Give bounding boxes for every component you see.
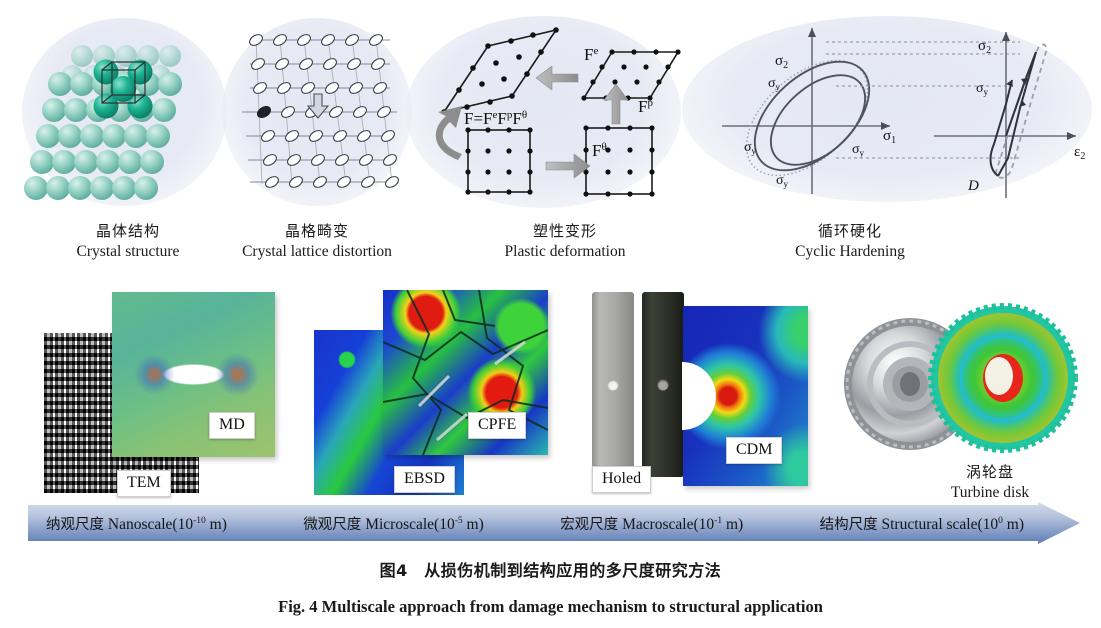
scale-item-macroscale: 宏观尺度 Macroscale(10-1 m): [560, 513, 743, 534]
scale-item-unit: m): [722, 516, 743, 533]
scale-item-exponent: -10: [193, 515, 206, 525]
cyclic-hardening-graphic: σ2 σ1 σy σy σy σy: [676, 8, 1096, 208]
arrow-total-icon: [436, 106, 462, 160]
label-cn: 晶格畸变: [172, 222, 462, 241]
label-plastic-deformation: Fp: [638, 97, 653, 116]
hysteresis-yield-label: σy: [976, 81, 989, 97]
label-en: Plastic deformation: [440, 242, 690, 261]
label-plastic-deformation: 塑性变形 Plastic deformation: [440, 222, 690, 261]
axis-label-sigma1: σ1: [883, 128, 896, 146]
scale-item-unit: m): [1003, 516, 1024, 533]
scale-item-nanoscale: 纳观尺度 Nanoscale(10-10 m): [46, 513, 227, 534]
tag-cpfe: CPFE: [468, 412, 526, 439]
thermal-config: [583, 125, 654, 196]
label-elastic-deformation: Fe: [584, 45, 598, 64]
hysteresis-plot: σ2 ε2 σy D: [934, 32, 1085, 198]
tag-cdm: CDM: [726, 437, 782, 464]
scale-item-microscale: 微观尺度 Microscale(10-5 m): [303, 513, 483, 534]
figure-caption-en: Fig. 4 Multiscale approach from damage m…: [0, 597, 1101, 617]
scale-item-cn: 结构尺度: [820, 517, 878, 533]
current-config: [441, 27, 559, 115]
panel-cyclic-hardening: σ2 σ1 σy σy σy σy: [676, 8, 1096, 208]
axis-label-sigma2: σ2: [775, 53, 788, 71]
label-thermal-deformation: Fθ: [592, 141, 607, 160]
projection-lines: [826, 42, 1020, 158]
scale-arrow-labels: 纳观尺度 Nanoscale(10-10 m) 微观尺度 Microscale(…: [28, 502, 1038, 544]
arrow-elastic-icon: [536, 66, 578, 90]
damage-label: D: [967, 178, 979, 194]
scale-item-en: Structural scale(10: [882, 516, 999, 533]
panel-plastic-deformation: F=FeFpFθ Fθ Fp Fe: [406, 12, 681, 212]
figure-caption-cn: 图4 从损伤机制到结构应用的多尺度研究方法: [0, 557, 1101, 581]
label-en: Cyclic Hardening: [730, 242, 970, 261]
arrow-plastic-icon: [604, 84, 628, 124]
scale-item-cn: 微观尺度: [303, 517, 361, 533]
yield-label-4: σy: [852, 142, 865, 158]
yield-label-1: σy: [768, 76, 781, 92]
plastic-config: [581, 49, 680, 100]
tag-tem: TEM: [117, 470, 171, 497]
crystal-lattice-graphic: [22, 12, 227, 212]
scale-item-exponent: -5: [455, 515, 463, 525]
reference-config: [465, 127, 532, 194]
scale-item-en: Nanoscale(10: [108, 516, 193, 533]
specimen-light: [592, 292, 634, 477]
tag-md: MD: [209, 412, 255, 439]
scale-item-en: Macroscale(10: [622, 516, 714, 533]
tile-turbine-disks: [840, 302, 1090, 482]
turbine-disk-graphic: [840, 302, 1090, 482]
scale-item-unit: m): [206, 516, 227, 533]
label-en: Crystal lattice distortion: [172, 242, 462, 261]
label-en: Turbine disk: [900, 483, 1080, 502]
scale-item-cn: 宏观尺度: [560, 517, 618, 533]
label-cyclic-hardening: 循环硬化 Cyclic Hardening: [730, 222, 970, 261]
hysteresis-axis-epsilon2: ε2: [1074, 144, 1085, 162]
dislocation-lattice-graphic: [222, 12, 412, 212]
label-cn: 塑性变形: [440, 222, 690, 241]
panel-lattice-distortion: [222, 12, 412, 212]
label-cn: 涡轮盘: [900, 463, 1080, 482]
scale-item-structural: 结构尺度 Structural scale(100 m): [820, 513, 1024, 534]
specimen-dark: [642, 292, 684, 477]
label-cn: 循环硬化: [730, 222, 970, 241]
deformation-decomposition-graphic: F=FeFpFθ Fθ Fp Fe: [406, 12, 681, 212]
scale-item-cn: 纳观尺度: [46, 517, 104, 533]
scale-item-en: Microscale(10: [365, 516, 455, 533]
scale-arrow: 纳观尺度 Nanoscale(10-10 m) 微观尺度 Microscale(…: [28, 502, 1080, 544]
scale-item-unit: m): [463, 516, 484, 533]
notch-cutout: [682, 362, 716, 430]
yield-label-3: σy: [776, 173, 789, 189]
tag-holed: Holed: [592, 466, 651, 493]
scale-item-exponent: -1: [714, 515, 722, 525]
panel-crystal-structure: [22, 12, 227, 212]
tag-ebsd: EBSD: [394, 466, 455, 493]
fea-turbine-disk: [931, 306, 1075, 450]
label-turbine-disk: 涡轮盘 Turbine disk: [900, 463, 1080, 502]
arrow-thermal-icon: [546, 154, 590, 178]
figure-multiscale-approach: F=FeFpFθ Fθ Fp Fe σ2 σ1 σy σy σy: [0, 0, 1101, 628]
hysteresis-axis-sigma2: σ2: [978, 38, 991, 56]
label-lattice-distortion: 晶格畸变 Crystal lattice distortion: [172, 222, 462, 261]
label-total-deformation: F=FeFpFθ: [464, 109, 527, 128]
